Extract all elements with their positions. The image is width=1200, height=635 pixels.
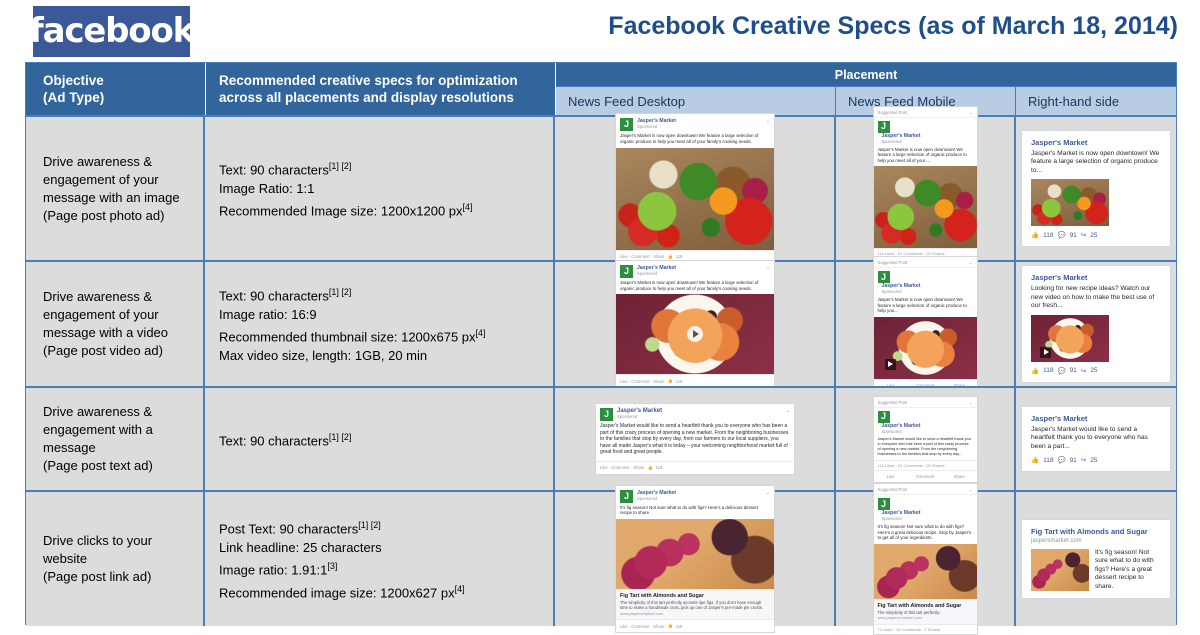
ad-preview-mobile-text[interactable]: Suggested Post ⌄ J Jasper's Market Spons… [873, 396, 978, 483]
share-icon: ↪ [1081, 367, 1086, 375]
sponsored-label: Sponsored [882, 516, 973, 522]
page-avatar-icon: J [878, 121, 890, 133]
header-specs-line2: across all placements and display resolu… [219, 89, 555, 106]
facebook-logo-text: facebook [29, 14, 194, 48]
objective-text: Drive awareness & engagement with a mess… [43, 404, 153, 455]
ad-header: J Jasper's Market Sponsored [874, 495, 977, 524]
spec-line: Recommended thumbnail size: 1200x675 px [219, 329, 476, 344]
ad-text: Looking for new recipe ideas? Watch our … [1031, 285, 1162, 311]
suggested-post-label: Suggested Post ⌄ [874, 484, 977, 495]
sponsored-label: Sponsored [637, 124, 766, 130]
header-objective: Objective (Ad Type) [26, 63, 205, 115]
specs-cell: Post Text: 90 characters[1] [2] Link hea… [206, 492, 555, 626]
spec-line: Max video size, length: 1GB, 20 min [219, 348, 427, 363]
link-attachment[interactable]: Fig Tart with Almonds and Sugar The simp… [616, 589, 774, 619]
news-feed-mobile-cell: Suggested Post ⌄ J Jasper's Market Spons… [836, 388, 1016, 490]
chevron-down-icon[interactable]: ⌄ [969, 400, 973, 405]
link-image [874, 544, 977, 599]
ad-title[interactable]: Jasper's Market [1031, 273, 1162, 283]
post-text: It's fig season! Not sure what to do wit… [874, 524, 977, 544]
specs-cell: Text: 90 characters[1] [2] Image ratio: … [206, 262, 555, 386]
like-button[interactable]: Like [874, 471, 908, 482]
link-attachment[interactable]: Fig Tart with Almonds and Sugar The simp… [874, 599, 977, 624]
slide-root: facebook Facebook Creative Specs (as of … [0, 0, 1200, 627]
spec-footnote: [1] [2] [329, 287, 352, 297]
engagement-stats: 👍118 💬91 ↪25 [1031, 231, 1162, 239]
thumbs-up-icon: 👍 [647, 465, 652, 471]
page-avatar-icon: J [878, 498, 890, 510]
spec-line: Post Text: 90 characters [219, 521, 358, 536]
play-icon[interactable] [1040, 347, 1051, 358]
page-avatar-icon: J [620, 265, 633, 278]
page-avatar-icon: J [600, 408, 613, 421]
ad-header: J Jasper's Market Sponsored [874, 408, 977, 437]
share-count: 25 [1090, 367, 1097, 374]
chevron-down-icon[interactable]: ⌄ [766, 118, 770, 124]
spec-line: Image ratio: 16:9 [219, 307, 317, 322]
video-thumbnail[interactable] [1031, 315, 1109, 362]
sponsored-label: Sponsored [882, 289, 973, 295]
spec-line: Text: 90 characters [219, 288, 329, 303]
thumbs-up-icon: 👍 [667, 378, 672, 384]
post-text: Jasper's Market is now open downtown! We… [874, 147, 977, 167]
like-count: 118 [676, 624, 683, 629]
ad-footer[interactable]: Like · Comment · Share 👍 118 [616, 619, 774, 632]
ad-preview-mobile-photo[interactable]: Suggested Post ⌄ J Jasper's Market Spons… [873, 106, 978, 272]
ad-text: It's fig season! Not sure what to do wit… [1095, 549, 1162, 592]
video-thumbnail[interactable] [616, 294, 774, 374]
post-actions[interactable]: Like · Comment · Share [620, 379, 664, 384]
post-text: Jasper's Market is now open downtown! We… [874, 297, 977, 317]
like-count: 118 [676, 254, 683, 259]
engagement-stats: 118 Likes · 91 Comments · 25 Shares [874, 460, 977, 470]
ad-image [1031, 179, 1109, 226]
like-count: 118 [1043, 367, 1053, 374]
ad-title[interactable]: Fig Tart with Almonds and Sugar [1031, 527, 1162, 537]
thumbs-up-icon: 👍 [1031, 231, 1039, 239]
link-image [616, 519, 774, 589]
spec-footnote: [4] [463, 202, 473, 212]
like-count: 118 [1043, 457, 1053, 464]
specs-cell: Text: 90 characters[1] [2] Image Ratio: … [206, 117, 555, 260]
share-button[interactable]: Share [942, 471, 976, 482]
post-actions[interactable]: Like · Comment · Share [620, 254, 664, 259]
sponsored-label: Sponsored [637, 496, 766, 502]
post-text: It's fig season! Not sure what to do wit… [616, 505, 774, 519]
table-row: Drive awareness & engagement of your mes… [26, 260, 1176, 386]
link-domain: www.jaspersmarket.com [620, 611, 770, 616]
ad-header: J Jasper's Market Sponsored ⌄ [616, 114, 774, 133]
sponsored-label: Sponsored [637, 271, 766, 277]
post-photo [874, 166, 977, 248]
spec-line: Image ratio: 1.91:1 [219, 563, 327, 578]
suggested-post-label: Suggested Post ⌄ [874, 257, 977, 268]
spec-footnote: [4] [455, 584, 465, 594]
play-icon[interactable] [885, 359, 896, 370]
spec-footnote: [3] [327, 561, 337, 571]
action-bar[interactable]: Like Comment Share [874, 470, 977, 482]
ad-type-text: (Page post video ad) [43, 343, 163, 358]
post-text: Jasper's Market would like to send a hea… [596, 423, 794, 461]
spec-line: Link headline: 25 characters [219, 540, 382, 555]
news-feed-mobile-cell: Suggested Post ⌄ J Jasper's Market Spons… [836, 117, 1016, 260]
post-text: Jasper's Market would like to send a hea… [874, 437, 977, 460]
engagement-stats: 72 Likes · 10 Comments · 7 Shares [874, 624, 977, 634]
comment-icon: 💬 [1057, 456, 1065, 464]
right-hand-side-cell: Jasper's Market Jasper's Market is now o… [1016, 117, 1176, 260]
spec-line: Recommended image size: 1200x627 px [219, 585, 455, 600]
ad-header: J Jasper's Market Sponsored ⌄ [596, 404, 794, 423]
comment-count: 91 [1070, 232, 1077, 239]
comment-count: 91 [1070, 457, 1077, 464]
video-thumbnail[interactable] [874, 317, 977, 379]
ad-domain: jaspersmarket.com [1031, 537, 1162, 545]
share-icon: ↪ [1081, 231, 1086, 239]
share-count: 25 [1090, 457, 1097, 464]
chevron-down-icon[interactable]: ⌄ [969, 487, 973, 492]
link-title[interactable]: Fig Tart with Almonds and Sugar [878, 603, 973, 610]
ad-footer[interactable]: Like · Comment · Share 👍 118 [596, 461, 794, 474]
news-feed-mobile-cell: Suggested Post ⌄ J Jasper's Market Spons… [836, 492, 1016, 626]
ad-image [1031, 549, 1089, 591]
objective-cell: Drive clicks to your website (Page post … [26, 492, 205, 626]
ad-type-text: (Page post photo ad) [43, 208, 164, 223]
share-count: 25 [1090, 232, 1097, 239]
chevron-down-icon[interactable]: ⌄ [969, 260, 973, 265]
like-count: 118 [1043, 232, 1053, 239]
sponsored-label: Sponsored [617, 414, 786, 420]
post-photo [616, 148, 774, 250]
objective-text: Drive awareness & engagement of your mes… [43, 289, 168, 340]
ad-header: J Jasper's Market Sponsored ⌄ [616, 486, 774, 505]
link-domain: www.jaspers-market.com [878, 615, 973, 620]
ad-text: Jasper's Market is now open downtown! We… [1031, 150, 1162, 176]
header-objective-line1: Objective [43, 72, 205, 89]
spec-line: Recommended Image size: 1200x1200 px [219, 203, 463, 218]
spec-line: Text: 90 characters [219, 433, 329, 448]
comment-count: 91 [1070, 367, 1077, 374]
page-avatar-icon: J [878, 411, 890, 423]
header-objective-line2: (Ad Type) [43, 89, 205, 106]
news-feed-desktop-cell: J Jasper's Market Sponsored ⌄ Jasper's M… [556, 262, 836, 386]
chevron-down-icon[interactable]: ⌄ [786, 408, 790, 414]
facebook-logo: facebook [33, 6, 190, 57]
objective-text: Drive clicks to your website [43, 533, 152, 566]
news-feed-desktop-cell: J Jasper's Market Sponsored ⌄ Jasper's M… [556, 388, 836, 490]
header-specs-line1: Recommended creative specs for optimizat… [219, 72, 555, 89]
link-description: The simplicity of this tart perfectly ac… [620, 600, 770, 611]
ad-title[interactable]: Jasper's Market [1031, 138, 1162, 148]
chevron-down-icon[interactable]: ⌄ [766, 490, 770, 496]
ad-type-text: (Page post link ad) [43, 569, 151, 584]
sponsored-label: Sponsored [882, 429, 973, 435]
ad-preview-mobile-link[interactable]: Suggested Post ⌄ J Jasper's Market Spons… [873, 483, 978, 635]
ad-title[interactable]: Jasper's Market [1031, 414, 1162, 424]
right-hand-side-cell: Jasper's Market Jasper's Market would li… [1016, 388, 1176, 490]
page-avatar-icon: J [878, 271, 890, 283]
spec-footnote: [1] [2] [358, 520, 381, 530]
news-feed-mobile-cell: Suggested Post ⌄ J Jasper's Market Spons… [836, 262, 1016, 386]
ad-preview-desktop-text[interactable]: J Jasper's Market Sponsored ⌄ Jasper's M… [595, 403, 795, 475]
header-specs: Recommended creative specs for optimizat… [206, 63, 555, 115]
specs-table: Objective (Ad Type) Recommended creative… [25, 62, 1177, 625]
thumbs-up-icon: 👍 [667, 623, 672, 629]
spec-line: Image Ratio: 1:1 [219, 181, 314, 196]
header-news-feed-desktop: News Feed Desktop [556, 86, 836, 115]
objective-text: Drive awareness & engagement of your mes… [43, 154, 180, 205]
ad-preview-desktop-link[interactable]: J Jasper's Market Sponsored ⌄ It's fig s… [615, 485, 775, 633]
header-right-hand-side: Right-hand side [1016, 86, 1176, 115]
thumbs-up-icon: 👍 [1031, 367, 1039, 375]
ad-preview-rhs-link[interactable]: Fig Tart with Almonds and Sugar jaspersm… [1021, 519, 1171, 600]
post-text: Jasper's Market is now open downtown! We… [616, 133, 774, 147]
thumbs-up-icon: 👍 [667, 254, 672, 260]
page-avatar-icon: J [620, 490, 633, 503]
news-feed-desktop-cell: J Jasper's Market Sponsored ⌄ It's fig s… [556, 492, 836, 626]
comment-icon: 💬 [1057, 367, 1065, 375]
ad-preview-rhs-photo[interactable]: Jasper's Market Jasper's Market is now o… [1021, 130, 1171, 248]
comment-button[interactable]: Comment [908, 471, 942, 482]
table-row: Drive awareness & engagement of your mes… [26, 115, 1176, 260]
sponsored-label: Sponsored [882, 139, 973, 145]
post-actions[interactable]: Like · Comment · Share [600, 465, 644, 470]
chevron-down-icon[interactable]: ⌄ [969, 110, 973, 115]
specs-cell: Text: 90 characters[1] [2] [206, 388, 555, 490]
post-text: Jasper's Market is now open downtown! We… [616, 280, 774, 294]
objective-cell: Drive awareness & engagement with a mess… [26, 388, 205, 490]
spec-footnote: [1] [2] [329, 161, 352, 171]
ad-preview-desktop-photo[interactable]: J Jasper's Market Sponsored ⌄ Jasper's M… [615, 113, 775, 263]
engagement-stats: 👍118 💬91 ↪25 [1031, 367, 1162, 375]
suggested-post-label: Suggested Post ⌄ [874, 397, 977, 408]
thumbs-up-icon: 👍 [1031, 456, 1039, 464]
post-actions[interactable]: Like · Comment · Share [620, 624, 664, 629]
link-title[interactable]: Fig Tart with Almonds and Sugar [620, 593, 770, 600]
ad-preview-rhs-video[interactable]: Jasper's Market Looking for new recipe i… [1021, 265, 1171, 383]
like-count: 118 [676, 379, 683, 384]
top-bar: facebook Facebook Creative Specs (as of … [0, 0, 1200, 62]
engagement-stats: 👍118 💬91 ↪25 [1031, 456, 1162, 464]
news-feed-desktop-cell: J Jasper's Market Sponsored ⌄ Jasper's M… [556, 117, 836, 260]
right-hand-side-cell: Jasper's Market Looking for new recipe i… [1016, 262, 1176, 386]
ad-preview-desktop-video[interactable]: J Jasper's Market Sponsored ⌄ Jasper's M… [615, 260, 775, 388]
play-icon[interactable] [687, 326, 703, 342]
table-row: Drive awareness & engagement with a mess… [26, 386, 1176, 490]
like-count: 118 [656, 465, 663, 470]
page-avatar-icon: J [620, 118, 633, 131]
page-title: Facebook Creative Specs (as of March 18,… [608, 12, 1178, 41]
comment-icon: 💬 [1057, 231, 1065, 239]
header-placement: Placement [556, 63, 1176, 86]
ad-preview-rhs-text[interactable]: Jasper's Market Jasper's Market would li… [1021, 406, 1171, 473]
ad-preview-mobile-video[interactable]: Suggested Post ⌄ J Jasper's Market Spons… [873, 256, 978, 392]
ad-header: J Jasper's Market Sponsored [874, 268, 977, 297]
ad-header: J Jasper's Market Sponsored [874, 118, 977, 147]
ad-text: Jasper's Market would like to send a hea… [1031, 426, 1162, 452]
share-icon: ↪ [1081, 456, 1086, 464]
objective-cell: Drive awareness & engagement of your mes… [26, 262, 205, 386]
table-row: Drive clicks to your website (Page post … [26, 490, 1176, 626]
ad-type-text: (Page post text ad) [43, 458, 153, 473]
right-hand-side-cell: Fig Tart with Almonds and Sugar jaspersm… [1016, 492, 1176, 626]
spec-footnote: [4] [476, 328, 486, 338]
suggested-post-label: Suggested Post ⌄ [874, 107, 977, 118]
ad-header: J Jasper's Market Sponsored ⌄ [616, 261, 774, 280]
spec-line: Text: 90 characters [219, 162, 329, 177]
chevron-down-icon[interactable]: ⌄ [766, 265, 770, 271]
objective-cell: Drive awareness & engagement of your mes… [26, 117, 205, 260]
spec-footnote: [1] [2] [329, 432, 352, 442]
